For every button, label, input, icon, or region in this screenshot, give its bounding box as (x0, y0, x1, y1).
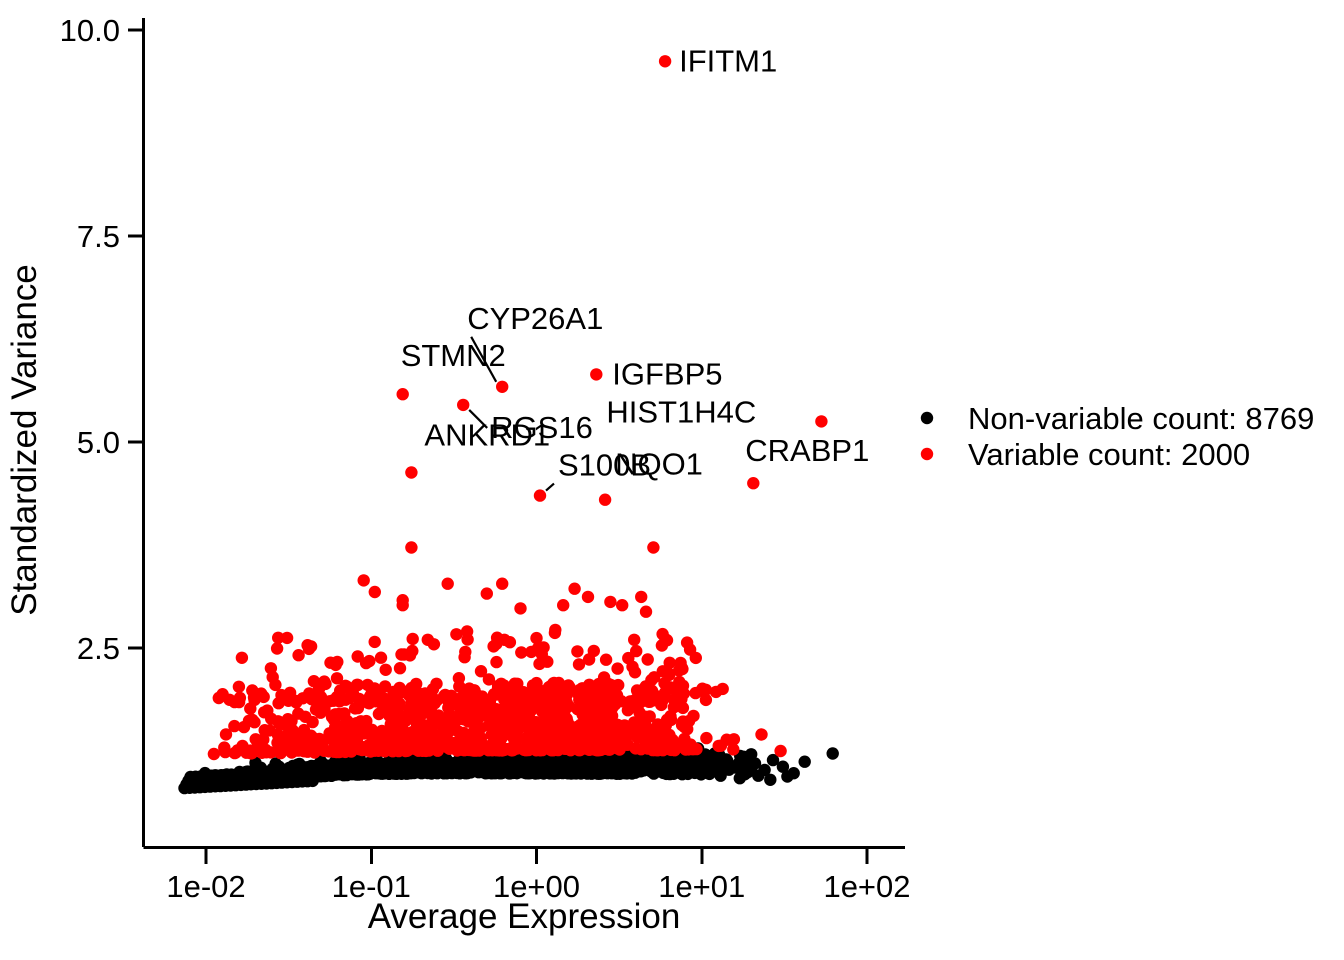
data-point-variable (394, 662, 406, 674)
data-point-variable (504, 636, 516, 648)
data-point-variable (493, 744, 505, 756)
data-point-variable (578, 736, 590, 748)
data-point-variable (303, 687, 315, 699)
data-point-variable (331, 672, 343, 684)
y-tick-label-10.0: 10.0 (60, 13, 120, 48)
data-point-variable (728, 733, 740, 745)
data-point-variable (503, 690, 515, 702)
data-point-variable (363, 655, 375, 667)
data-point-variable (273, 745, 285, 757)
data-point-variable (380, 664, 392, 676)
data-point-variable (642, 653, 654, 665)
data-point-variable (629, 666, 641, 678)
labeled-point-S100B (534, 489, 546, 501)
data-point-variable (317, 677, 329, 689)
data-point-variable (601, 731, 613, 743)
data-point-variable (426, 691, 438, 703)
gene-label-IGFBP5: IGFBP5 (612, 356, 722, 391)
data-point-variable (684, 739, 696, 751)
data-point-variable (553, 677, 565, 689)
data-point-variable (442, 727, 454, 739)
data-point-variable (689, 687, 701, 699)
data-point-variable (677, 715, 689, 727)
gene-annotations: IFITM1CYP26A1STMN2IGFBP5RGS16HIST1H4CANK… (397, 43, 870, 506)
data-point-variable (646, 744, 658, 756)
data-point-non-variable (338, 760, 350, 772)
data-point-variable (223, 694, 235, 706)
data-point-variable (341, 715, 353, 727)
data-point-variable (577, 709, 589, 721)
data-point-non-variable (729, 761, 741, 773)
legend-marker-non-variable (921, 412, 933, 424)
data-point-variable (564, 733, 576, 745)
data-point-variable (306, 716, 318, 728)
data-point-variable (629, 742, 641, 754)
data-point-variable (314, 693, 326, 705)
data-point-non-variable (327, 769, 339, 781)
data-point-variable (549, 741, 561, 753)
data-point-non-variable (699, 764, 711, 776)
labeled-point-HIST1H4C (815, 415, 827, 427)
gene-label-NQO1: NQO1 (615, 447, 703, 482)
labeled-point-NQO1 (599, 494, 611, 506)
labeled-point-IFITM1 (659, 55, 671, 67)
data-point-variable (663, 669, 675, 681)
labeled-point-RGS16 (457, 399, 469, 411)
data-point-variable (344, 735, 356, 747)
data-point-variable (497, 718, 509, 730)
data-point-variable-outlier (690, 652, 702, 664)
data-point-variable (444, 714, 456, 726)
data-point-variable (327, 694, 339, 706)
x-tick-label-1e+02: 1e+02 (823, 869, 910, 904)
data-point-variable-outlier (755, 728, 767, 740)
data-point-variable (213, 692, 225, 704)
data-point-non-variable (408, 767, 420, 779)
y-tick-label-2.5: 2.5 (77, 631, 120, 666)
x-axis-ticks: 1e-021e-011e+001e+011e+02 (166, 848, 910, 904)
data-point-variable (245, 747, 257, 759)
data-point-variable-outlier (397, 599, 409, 611)
data-point-variable (377, 692, 389, 704)
data-point-variable (676, 663, 688, 675)
data-point-variable (236, 652, 248, 664)
data-point-variable-outlier (422, 634, 434, 646)
data-point-variable (258, 691, 270, 703)
data-point-variable (246, 714, 258, 726)
data-point-variable (430, 678, 442, 690)
data-point-variable (326, 711, 338, 723)
data-point-variable (524, 726, 536, 738)
data-point-variable (673, 676, 685, 688)
data-point-variable (441, 741, 453, 753)
data-point-variable-outlier (461, 625, 473, 637)
data-point-variable (282, 695, 294, 707)
data-point-non-variable (600, 760, 612, 772)
data-point-variable-outlier (628, 634, 640, 646)
data-point-non-variable (421, 759, 433, 771)
data-point-variable (450, 628, 462, 640)
data-point-variable (220, 728, 232, 740)
data-point-variable (645, 727, 657, 739)
data-point-variable-outlier (640, 606, 652, 618)
data-point-variable (301, 639, 313, 651)
data-point-variable (417, 721, 429, 733)
y-tick-label-5.0: 5.0 (77, 425, 120, 460)
data-point-variable (313, 733, 325, 745)
data-point-variable (395, 648, 407, 660)
chart-canvas: 2.55.07.510.0 1e-021e-011e+001e+011e+02 … (0, 0, 1344, 960)
gene-label-STMN2: STMN2 (401, 338, 506, 373)
data-point-non-variable (475, 763, 487, 775)
data-point-variable-outlier (514, 602, 526, 614)
data-point-non-variable (752, 770, 764, 782)
variable-feature-plot: 2.55.07.510.0 1e-021e-011e+001e+011e+02 … (0, 0, 1344, 960)
data-point-non-variable (781, 770, 793, 782)
data-point-variable (465, 744, 477, 756)
data-point-variable (469, 695, 481, 707)
data-point-variable (484, 695, 496, 707)
data-point-variable-outlier (442, 578, 454, 590)
data-point-variable (700, 732, 712, 744)
data-point-variable (668, 694, 680, 706)
data-point-variable (267, 671, 279, 683)
data-point-variable (710, 686, 722, 698)
data-point-variable (391, 703, 403, 715)
data-point-variable (574, 684, 586, 696)
data-point-variable-outlier (549, 624, 561, 636)
data-point-variable (285, 732, 297, 744)
data-point-variable (369, 636, 381, 648)
data-point-variable (600, 654, 612, 666)
gene-label-CRABP1: CRABP1 (745, 433, 869, 468)
data-point-variable (601, 743, 613, 755)
data-point-variable (624, 695, 636, 707)
data-point-variable (600, 708, 612, 720)
data-point-variable (475, 665, 487, 677)
data-point-variable (650, 693, 662, 705)
data-point-non-variable (738, 751, 750, 763)
labeled-point-CRABP1 (747, 477, 759, 489)
data-point-variable (361, 679, 373, 691)
labeled-point-ANKRD1 (405, 466, 417, 478)
data-point-variable-outlier (405, 541, 417, 553)
data-point-non-variable (458, 764, 470, 776)
data-point-variable (540, 712, 552, 724)
data-point-non-variable (536, 763, 548, 775)
data-point-variable-outlier (774, 745, 786, 757)
data-point-variable (457, 727, 469, 739)
data-point-non-variable (500, 765, 512, 777)
data-point-non-variable (393, 764, 405, 776)
data-point-variable (567, 722, 579, 734)
gene-label-HIST1H4C: HIST1H4C (606, 394, 756, 429)
data-point-variable (439, 689, 451, 701)
gene-label-IFITM1: IFITM1 (679, 43, 777, 78)
data-point-variable (630, 645, 642, 657)
data-point-variable (282, 713, 294, 725)
data-point-variable-outlier (568, 583, 580, 595)
data-point-variable-outlier (664, 657, 676, 669)
data-point-variable (459, 646, 471, 658)
data-point-variable (608, 693, 620, 705)
data-point-variable (548, 722, 560, 734)
data-point-variable (229, 747, 241, 759)
data-point-variable (588, 645, 600, 657)
data-point-variable (393, 723, 405, 735)
data-point-variable (524, 689, 536, 701)
data-point-variable (407, 633, 419, 645)
data-point-variable (376, 728, 388, 740)
data-point-variable (412, 711, 424, 723)
data-point-non-variable (437, 767, 449, 779)
data-point-variable (360, 715, 372, 727)
data-point-variable (495, 730, 507, 742)
data-point-variable (571, 645, 583, 657)
data-point-non-variable (714, 770, 726, 782)
data-point-variable (661, 714, 673, 726)
data-point-variable (490, 656, 502, 668)
data-point-non-variable (638, 764, 650, 776)
data-point-variable-outlier (604, 596, 616, 608)
data-point-variable-outlier (481, 587, 493, 599)
data-point-variable (233, 681, 245, 693)
data-point-variable (234, 692, 246, 704)
data-point-variable (472, 710, 484, 722)
data-point-variable (261, 704, 273, 716)
data-point-variable (406, 693, 418, 705)
y-axis-title: Standardized Variance (5, 264, 44, 616)
data-point-variable-outlier (635, 591, 647, 603)
data-point-variable (362, 693, 374, 705)
data-point-variable (272, 632, 284, 644)
data-point-variable (271, 642, 283, 654)
data-point-variable (507, 744, 519, 756)
data-point-variable (541, 656, 553, 668)
data-point-non-variable (764, 774, 776, 786)
data-point-variable (296, 743, 308, 755)
labeled-point-IGFBP5 (590, 368, 602, 380)
data-point-variable (453, 672, 465, 684)
labeled-point-CYP26A1 (496, 381, 508, 393)
data-point-non-variable (799, 756, 811, 768)
legend-label-non-variable: Non-variable count: 8769 (968, 401, 1314, 436)
data-point-variable (375, 652, 387, 664)
data-point-variable (428, 718, 440, 730)
data-point-variable (365, 745, 377, 757)
data-point-variable (263, 724, 275, 736)
legend: Non-variable count: 8769Variable count: … (921, 401, 1315, 472)
data-point-variable-outlier (530, 632, 542, 644)
x-axis-title: Average Expression (368, 897, 681, 936)
data-point-non-variable (567, 760, 579, 772)
data-point-variable-outlier (647, 541, 659, 553)
data-point-variable (475, 742, 487, 754)
data-point-variable-outlier (358, 574, 370, 586)
data-point-variable (611, 662, 623, 674)
data-point-non-variable (514, 766, 526, 778)
data-point-variable (559, 712, 571, 724)
data-point-non-variable (827, 747, 839, 759)
data-point-variable (656, 639, 668, 651)
data-point-non-variable (650, 766, 662, 778)
gene-label-CYP26A1: CYP26A1 (467, 301, 603, 336)
data-point-variable-outlier (496, 578, 508, 590)
data-point-non-variable (350, 766, 362, 778)
data-point-non-variable (734, 772, 746, 784)
data-point-variable (648, 671, 660, 683)
data-point-variable-outlier (487, 640, 499, 652)
data-point-variable (292, 649, 304, 661)
data-point-variable-outlier (557, 599, 569, 611)
legend-label-variable: Variable count: 2000 (968, 437, 1250, 472)
x-tick-label-1e-02: 1e-02 (166, 869, 245, 904)
data-point-variable (535, 742, 547, 754)
data-point-variable (583, 693, 595, 705)
labeled-point-STMN2 (397, 388, 409, 400)
data-point-variable (514, 718, 526, 730)
data-point-variable (488, 706, 500, 718)
y-axis-ticks: 2.55.07.510.0 (60, 13, 143, 666)
data-point-variable (511, 678, 523, 690)
data-point-non-variable (312, 764, 324, 776)
data-point-variable-outlier (582, 591, 594, 603)
data-point-variable (546, 694, 558, 706)
data-point-variable (208, 748, 220, 760)
variable-points (208, 541, 787, 760)
data-point-variable (401, 745, 413, 757)
data-point-variable (589, 714, 601, 726)
legend-marker-variable (921, 448, 933, 460)
y-tick-label-7.5: 7.5 (77, 219, 120, 254)
data-point-variable (333, 737, 345, 749)
data-point-variable (660, 737, 672, 749)
data-point-variable-outlier (616, 599, 628, 611)
data-point-variable (492, 682, 504, 694)
data-point-variable (331, 656, 343, 668)
gene-label-ANKRD1: ANKRD1 (424, 417, 550, 452)
leader-line-S100B (546, 484, 554, 491)
data-point-variable-outlier (369, 586, 381, 598)
